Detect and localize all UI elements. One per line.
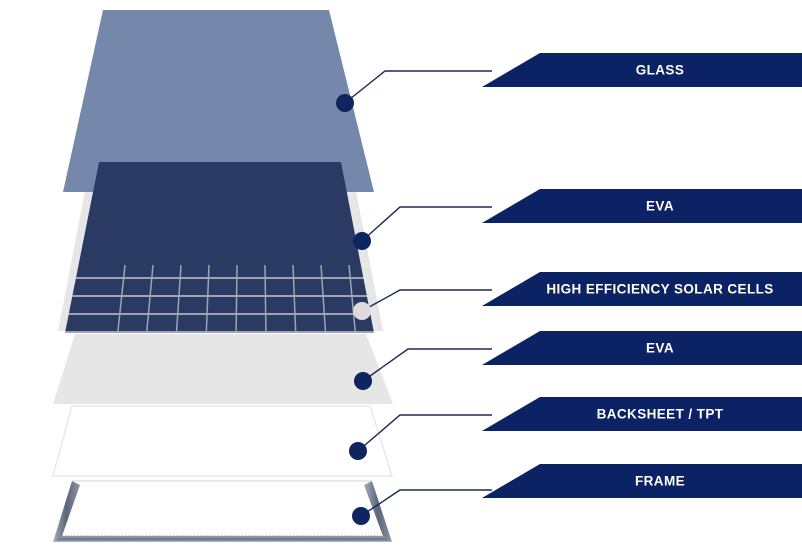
connector-dot-glass [336,94,354,112]
banner-eva-top[interactable] [482,189,802,223]
callout-eva-top[interactable]: EVA [353,189,802,250]
layer-sheet-backsheet [53,406,392,476]
connector-dot-eva-top [353,232,371,250]
connector-line-eva-bottom [363,349,492,381]
layer-sheet-eva-bottom [53,334,393,404]
connector-line-glass [345,71,492,103]
solar-panel-layers-diagram: GLASS EVA HIGH EFFICIENCY SOLAR CELLS EV… [0,0,802,555]
layer-sheet-frame [53,481,392,542]
callout-backsheet[interactable]: BACKSHEET / TPT [349,397,802,460]
connector-line-cells [362,290,492,311]
banner-eva-bottom[interactable] [482,331,802,365]
banner-label-frame: FRAME [635,474,685,489]
banner-label-eva-bottom: EVA [646,341,674,356]
callout-eva-bottom[interactable]: EVA [354,331,802,390]
banner-label-eva-top: EVA [646,199,674,214]
layer-sheet-cells [55,162,385,340]
banner-label-backsheet: BACKSHEET / TPT [597,407,724,422]
banner-label-cells: HIGH EFFICIENCY SOLAR CELLS [546,282,773,297]
callout-cells[interactable]: HIGH EFFICIENCY SOLAR CELLS [353,272,802,320]
connector-dot-eva-bottom [354,372,372,390]
connector-dot-backsheet [349,442,367,460]
connector-line-eva-top [362,207,492,241]
connector-dot-cells [353,302,371,320]
callout-frame[interactable]: FRAME [352,464,802,525]
diagram-canvas: GLASS EVA HIGH EFFICIENCY SOLAR CELLS EV… [0,0,802,555]
connector-dot-frame [352,507,370,525]
callout-glass[interactable]: GLASS [336,53,802,112]
banner-label-glass: GLASS [636,63,685,78]
